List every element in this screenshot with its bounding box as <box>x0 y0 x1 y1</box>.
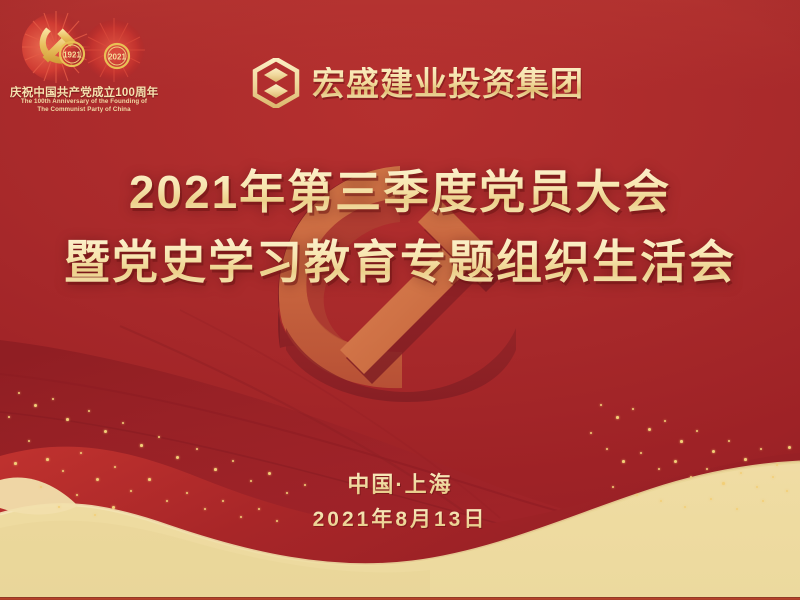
anniversary-english-line-1: The 100th Anniversary of the Founding of <box>10 98 158 106</box>
silk-ribbon-graphic <box>0 300 800 600</box>
title-line-1: 2021年第三季度党员大会 <box>0 164 800 222</box>
anniversary-english-text: The 100th Anniversary of the Founding of… <box>10 98 158 115</box>
poster-title: 2021年第三季度党员大会 暨党史学习教育专题组织生活会 <box>0 164 800 292</box>
anniversary-english-line-2: The Communist Party of China <box>10 106 158 114</box>
hexagon-diamond-logo-icon <box>252 58 300 108</box>
event-date: 2021年8月13日 <box>0 506 800 534</box>
company-name: 宏盛建业投资集团 <box>312 67 584 100</box>
svg-text:1921: 1921 <box>63 51 81 60</box>
title-line-2: 暨党史学习教育专题组织生活会 <box>0 234 800 292</box>
event-location: 中国·上海 <box>0 470 800 500</box>
poster-meta: 中国·上海 2021年8月13日 <box>0 470 800 534</box>
cpc-100th-anniversary-emblem: 1921 2021 庆祝中国共产党成立100周年 The 100th Anniv… <box>10 8 158 116</box>
company-brand: 宏盛建业投资集团 <box>252 58 584 108</box>
hammer-sickle-icon: 1921 2021 <box>10 8 158 86</box>
svg-text:2021: 2021 <box>108 53 126 62</box>
event-poster: 1921 2021 庆祝中国共产党成立100周年 The 100th Anniv… <box>0 0 800 600</box>
